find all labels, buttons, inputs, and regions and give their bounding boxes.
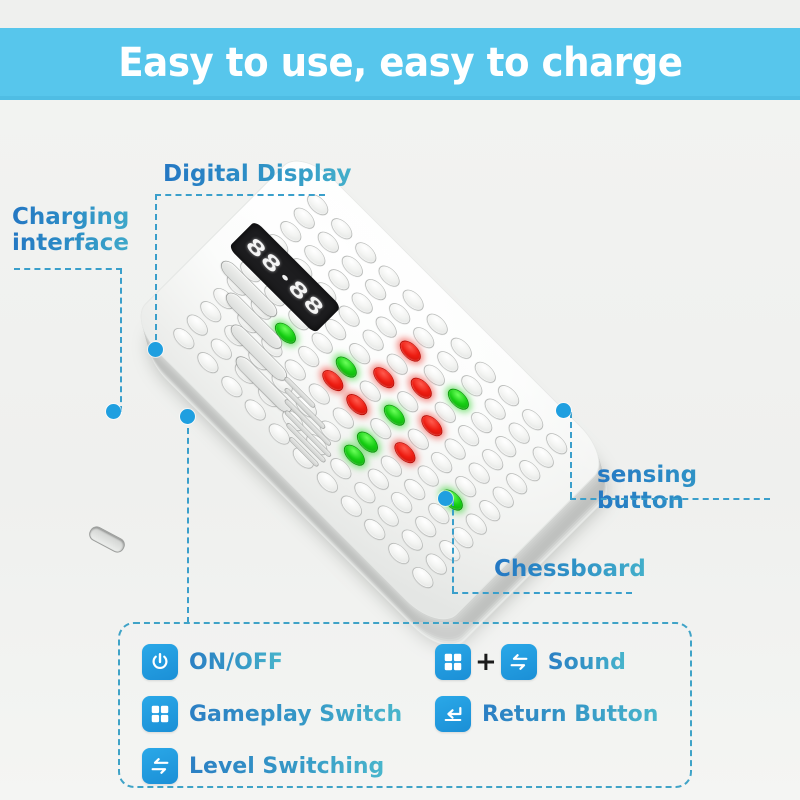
power-icon xyxy=(142,644,178,680)
grid-icon xyxy=(435,644,471,680)
legend-label-sound: Sound xyxy=(548,650,626,675)
legend-item-gameplay-switch[interactable]: Gameplay Switch xyxy=(142,690,402,738)
combiner-plus-sign: + xyxy=(475,649,497,675)
legend-label-gameplay-switch: Gameplay Switch xyxy=(189,702,402,727)
legend-item-sound[interactable]: + Sound xyxy=(435,638,658,686)
callout-underline-digital-display xyxy=(155,194,325,196)
swap-icon xyxy=(142,748,178,784)
legend-label-return-button: Return Button xyxy=(482,702,658,727)
callout-label-digital-display: Digital Display xyxy=(163,162,363,188)
callout-underline-chessboard xyxy=(452,592,632,594)
callout-leader-chessboard xyxy=(452,500,454,592)
callout-label-chessboard: Chessboard xyxy=(494,557,654,583)
legend-column-right: + Sound Return Button xyxy=(435,638,658,742)
callout-dot-function-buttons xyxy=(180,409,195,424)
callout-dot-digital-display xyxy=(148,342,163,357)
grid-icon xyxy=(142,696,178,732)
callout-label-sensing-button: sensing button xyxy=(597,463,787,515)
return-icon xyxy=(435,696,471,732)
callout-label-charging-interface: Charging interface xyxy=(12,205,152,257)
legend-item-return-button[interactable]: Return Button xyxy=(435,690,658,738)
callout-dot-sensing-button xyxy=(556,403,571,418)
callout-underline-sensing-button xyxy=(570,498,770,500)
display-colon-dot xyxy=(281,273,289,281)
legend-item-on-off[interactable]: ON/OFF xyxy=(142,638,402,686)
legend-label-on-off: ON/OFF xyxy=(189,650,283,675)
header-banner: Easy to use, easy to charge xyxy=(0,28,800,98)
legend-column-left: ON/OFF Gameplay Switch xyxy=(142,638,402,794)
legend-item-level-switching[interactable]: Level Switching xyxy=(142,742,402,790)
callout-leader-digital-display xyxy=(155,194,157,350)
callout-dot-chessboard xyxy=(438,491,453,506)
callout-underline-charging-interface xyxy=(14,268,122,270)
callout-leader-sensing-button xyxy=(570,412,572,498)
control-legend-box: ON/OFF Gameplay Switch xyxy=(118,622,692,788)
infographic-canvas: Easy to use, easy to charge 88 88 xyxy=(0,0,800,800)
swap-icon xyxy=(501,644,537,680)
callout-dot-charging-interface xyxy=(106,404,121,419)
usb-c-charging-port[interactable] xyxy=(87,524,128,555)
callout-leader-function-buttons xyxy=(187,418,189,623)
callout-leader-charging-interface xyxy=(120,268,122,412)
legend-label-level-switching: Level Switching xyxy=(189,754,384,779)
banner-title: Easy to use, easy to charge xyxy=(118,40,682,86)
